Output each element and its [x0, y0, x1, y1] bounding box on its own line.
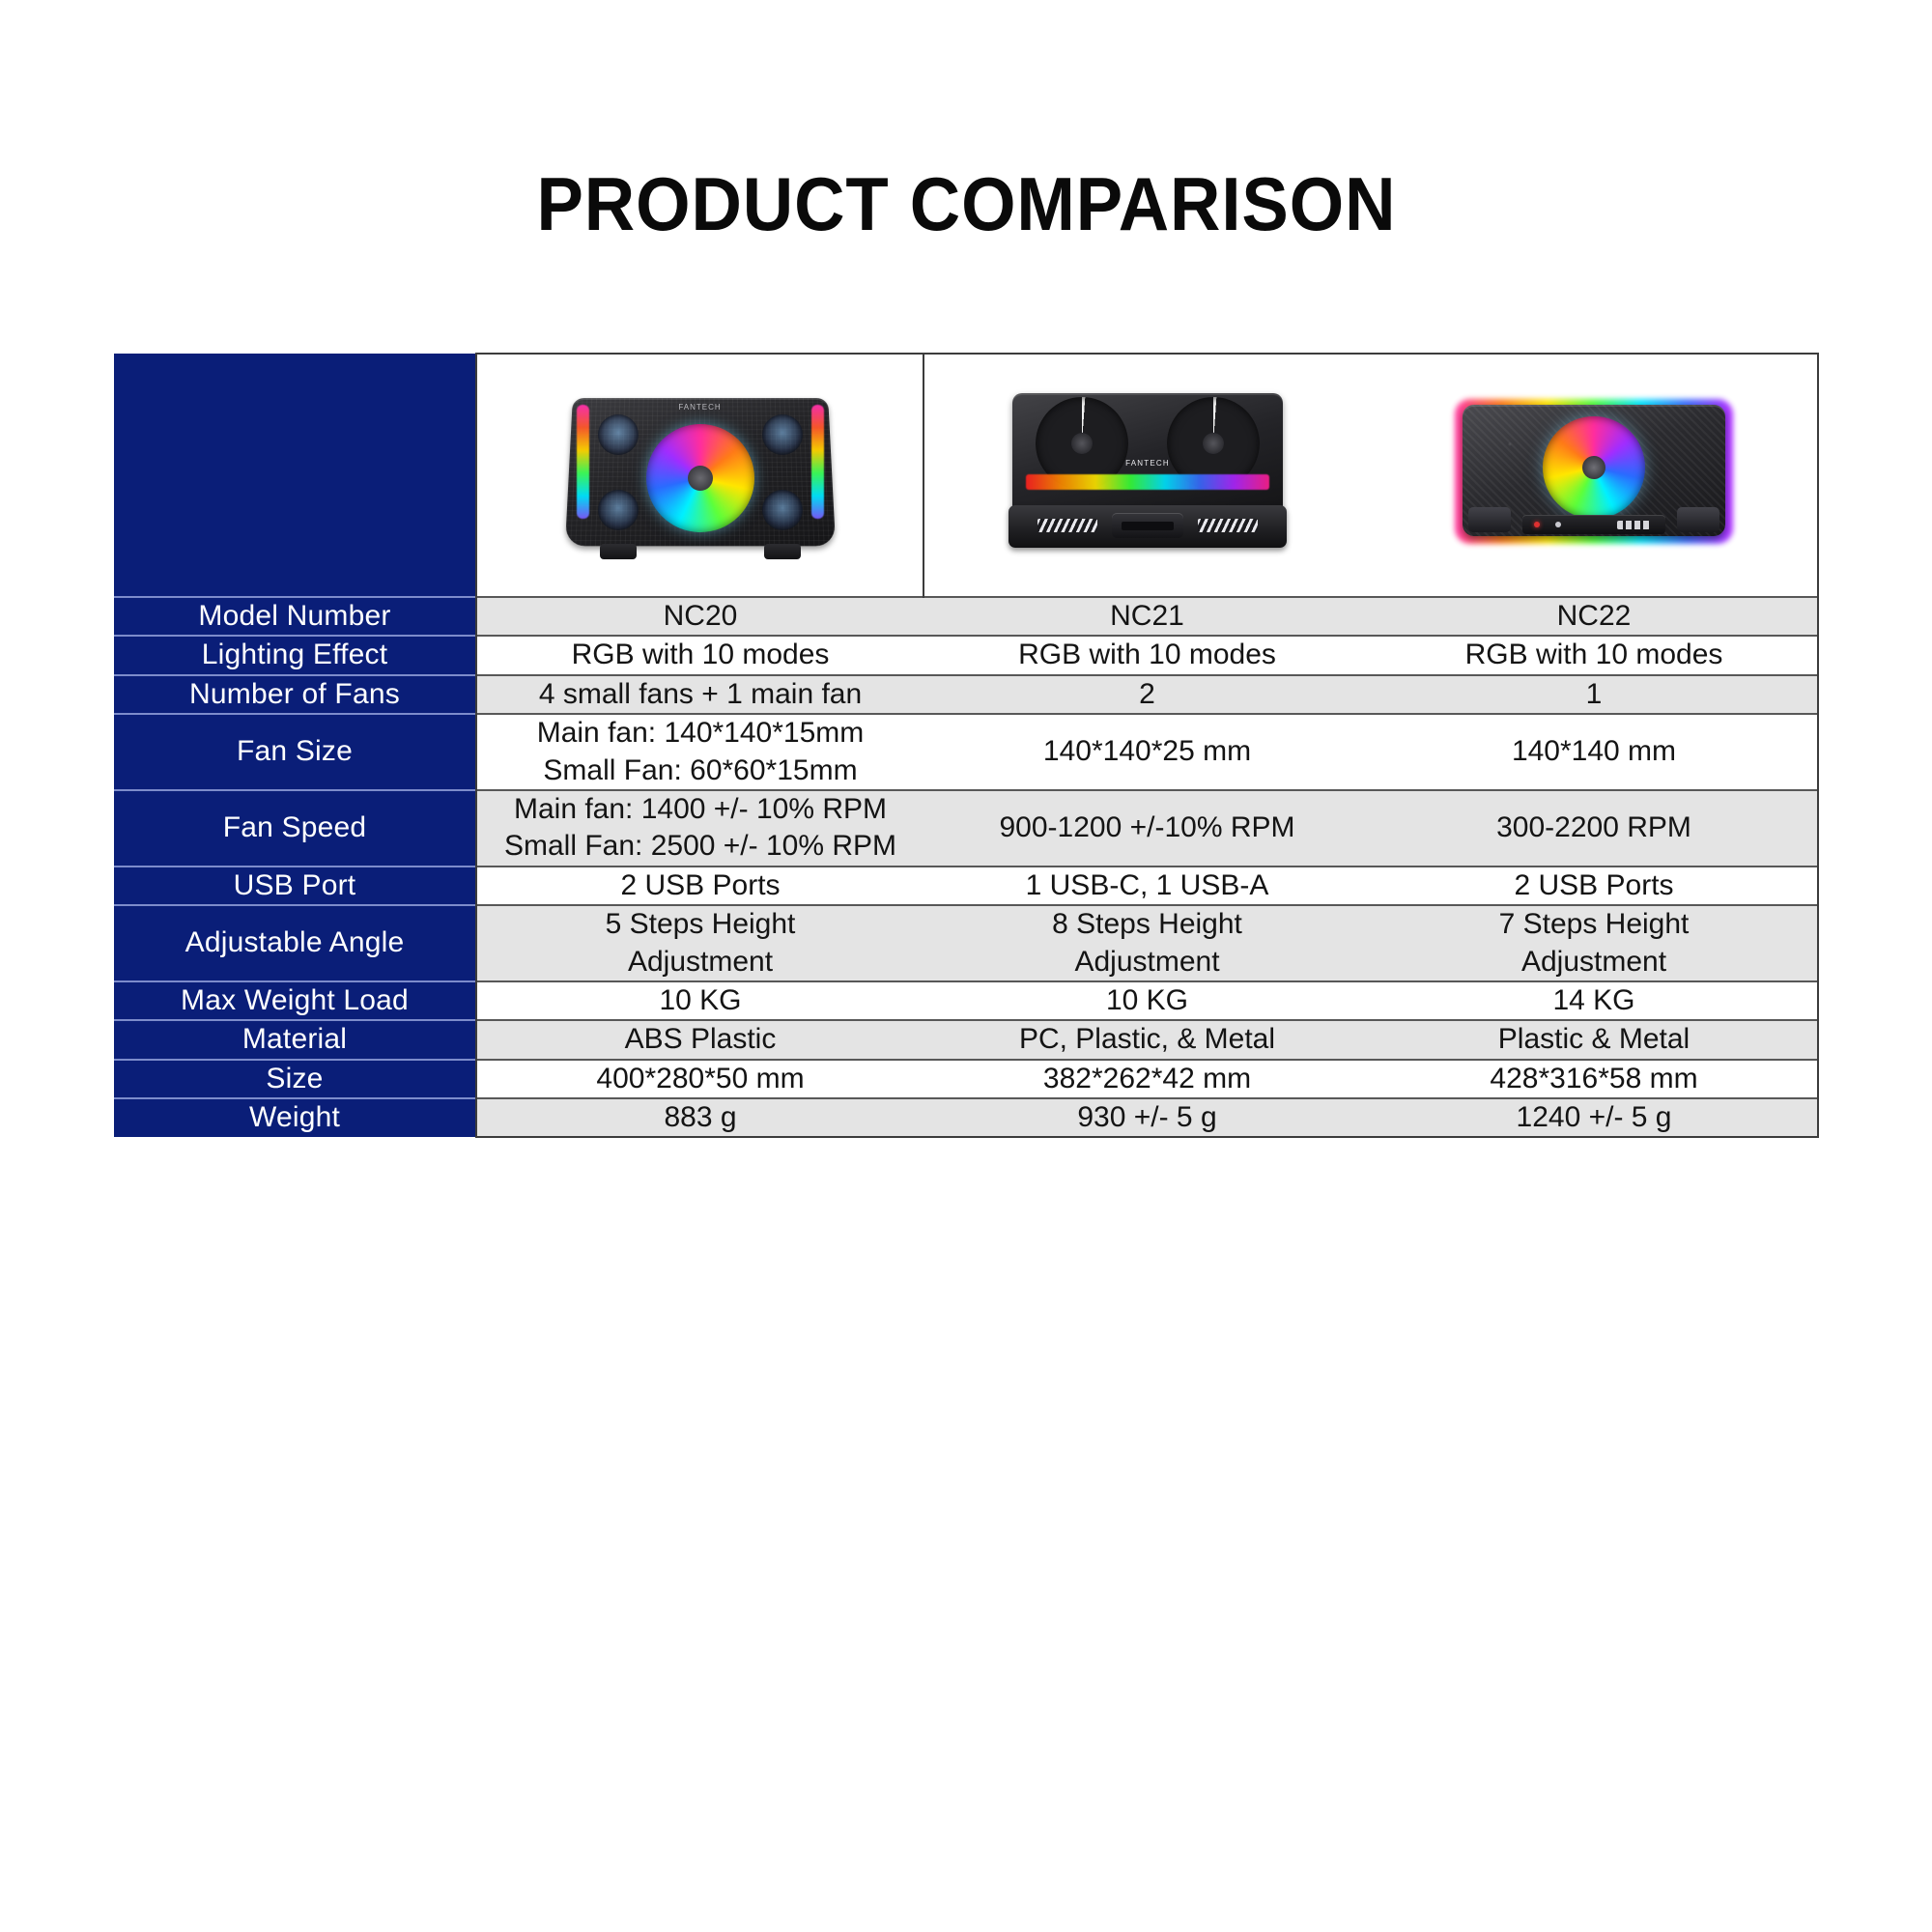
cell-line: 300-2200 RPM [1371, 810, 1817, 846]
row-label-lighting-effect: Lighting Effect [114, 636, 476, 674]
table-body: FANTECH [114, 354, 1818, 1137]
cell-line: Small Fan: 2500 +/- 10% RPM [477, 828, 923, 865]
page-title: PRODUCT COMPARISON [536, 166, 1396, 241]
cell-line: Plastic & Metal [1371, 1021, 1817, 1058]
cell-nc20-size: 400*280*50 mm [476, 1060, 923, 1098]
cell-line: 5 Steps Height [477, 906, 923, 943]
row-label-max-weight-load: Max Weight Load [114, 981, 476, 1020]
cell-nc22-adjustable-angle: 7 Steps HeightAdjustment [1371, 905, 1818, 981]
image-row-label-spacer [114, 354, 476, 597]
cell-line: 930 +/- 5 g [923, 1099, 1371, 1136]
table-row: Max Weight Load10 KG10 KG14 KG [114, 981, 1818, 1020]
cell-line: 400*280*50 mm [477, 1061, 923, 1097]
row-label-weight: Weight [114, 1098, 476, 1137]
cell-nc20-model-number: NC20 [476, 597, 923, 636]
cell-nc21-max-weight-load: 10 KG [923, 981, 1371, 1020]
cell-line: Adjustment [477, 944, 923, 980]
cell-nc21-fan-speed: 900-1200 +/-10% RPM [923, 790, 1371, 867]
product-image-row: FANTECH [114, 354, 1818, 597]
row-label-material: Material [114, 1020, 476, 1059]
table-row: Model NumberNC20NC21NC22 [114, 597, 1818, 636]
cell-line: 8 Steps Height [923, 906, 1371, 943]
cell-line: 382*262*42 mm [923, 1061, 1371, 1097]
cell-nc22-usb-port: 2 USB Ports [1371, 867, 1818, 905]
cell-line: PC, Plastic, & Metal [923, 1021, 1371, 1058]
cell-line: 10 KG [923, 982, 1371, 1019]
laptop-cooling-pad-nc21-photo: FANTECH [1003, 382, 1293, 565]
cell-nc21-adjustable-angle: 8 Steps HeightAdjustment [923, 905, 1371, 981]
product-comparison-table: FANTECH [114, 353, 1819, 1138]
table-row: Lighting EffectRGB with 10 modesRGB with… [114, 636, 1818, 674]
row-label-model-number: Model Number [114, 597, 476, 636]
product-image-cell-nc22 [1371, 354, 1818, 597]
row-label-fan-size: Fan Size [114, 714, 476, 790]
cell-line: 2 USB Ports [1371, 867, 1817, 904]
cell-nc22-material: Plastic & Metal [1371, 1020, 1818, 1059]
cell-nc22-size: 428*316*58 mm [1371, 1060, 1818, 1098]
row-label-usb-port: USB Port [114, 867, 476, 905]
cell-line: 1240 +/- 5 g [1371, 1099, 1817, 1136]
cell-line: 14 KG [1371, 982, 1817, 1019]
cell-line: 140*140*25 mm [923, 733, 1371, 770]
title-bar: PRODUCT COMPARISON [0, 116, 1932, 293]
table-row: MaterialABS PlasticPC, Plastic, & MetalP… [114, 1020, 1818, 1059]
cell-line: ABS Plastic [477, 1021, 923, 1058]
row-label-fan-speed: Fan Speed [114, 790, 476, 867]
cell-line: RGB with 10 modes [477, 637, 923, 673]
cell-nc20-number-of-fans: 4 small fans + 1 main fan [476, 675, 923, 714]
table-row: USB Port2 USB Ports1 USB-C, 1 USB-A2 USB… [114, 867, 1818, 905]
comparison-page: PRODUCT COMPARISON FANTECH [0, 0, 1932, 1932]
cell-nc20-fan-size: Main fan: 140*140*15mmSmall Fan: 60*60*1… [476, 714, 923, 790]
table-row: Fan SizeMain fan: 140*140*15mmSmall Fan:… [114, 714, 1818, 790]
cell-line: 7 Steps Height [1371, 906, 1817, 943]
cell-nc22-fan-speed: 300-2200 RPM [1371, 790, 1818, 867]
cell-nc21-number-of-fans: 2 [923, 675, 1371, 714]
table-row: Size400*280*50 mm382*262*42 mm428*316*58… [114, 1060, 1818, 1098]
cell-line: 10 KG [477, 982, 923, 1019]
cell-line: 1 USB-C, 1 USB-A [923, 867, 1371, 904]
cell-nc21-weight: 930 +/- 5 g [923, 1098, 1371, 1137]
cell-nc20-usb-port: 2 USB Ports [476, 867, 923, 905]
cell-nc22-model-number: NC22 [1371, 597, 1818, 636]
cell-line: 4 small fans + 1 main fan [477, 676, 923, 713]
cell-line: Main fan: 140*140*15mm [477, 715, 923, 752]
cell-nc21-material: PC, Plastic, & Metal [923, 1020, 1371, 1059]
cell-line: 140*140 mm [1371, 733, 1817, 770]
cell-nc22-max-weight-load: 14 KG [1371, 981, 1818, 1020]
cell-nc20-adjustable-angle: 5 Steps HeightAdjustment [476, 905, 923, 981]
cell-nc22-weight: 1240 +/- 5 g [1371, 1098, 1818, 1137]
cell-line: NC21 [923, 598, 1371, 635]
cell-nc20-max-weight-load: 10 KG [476, 981, 923, 1020]
cell-line: 1 [1371, 676, 1817, 713]
cell-nc20-fan-speed: Main fan: 1400 +/- 10% RPMSmall Fan: 250… [476, 790, 923, 867]
cell-line: 2 [923, 676, 1371, 713]
cell-nc20-weight: 883 g [476, 1098, 923, 1137]
row-label-number-of-fans: Number of Fans [114, 675, 476, 714]
cell-line: Small Fan: 60*60*15mm [477, 753, 923, 789]
cell-line: 428*316*58 mm [1371, 1061, 1817, 1097]
cell-line: 883 g [477, 1099, 923, 1136]
cell-nc21-size: 382*262*42 mm [923, 1060, 1371, 1098]
cell-line: 2 USB Ports [477, 867, 923, 904]
table-row: Weight883 g930 +/- 5 g1240 +/- 5 g [114, 1098, 1818, 1137]
cell-line: NC22 [1371, 598, 1817, 635]
product-image-cell-nc20: FANTECH [476, 354, 923, 597]
cell-nc22-number-of-fans: 1 [1371, 675, 1818, 714]
cell-nc21-usb-port: 1 USB-C, 1 USB-A [923, 867, 1371, 905]
cell-line: RGB with 10 modes [1371, 637, 1817, 673]
cell-nc21-fan-size: 140*140*25 mm [923, 714, 1371, 790]
cell-line: RGB with 10 modes [923, 637, 1371, 673]
cell-line: Adjustment [1371, 944, 1817, 980]
cell-line: NC20 [477, 598, 923, 635]
row-label-adjustable-angle: Adjustable Angle [114, 905, 476, 981]
cell-nc21-lighting-effect: RGB with 10 modes [923, 636, 1371, 674]
laptop-cooling-pad-nc22-photo [1449, 382, 1739, 565]
cell-nc20-material: ABS Plastic [476, 1020, 923, 1059]
cell-line: Adjustment [923, 944, 1371, 980]
cell-nc21-model-number: NC21 [923, 597, 1371, 636]
cell-nc20-lighting-effect: RGB with 10 modes [476, 636, 923, 674]
table-row: Adjustable Angle5 Steps HeightAdjustment… [114, 905, 1818, 981]
laptop-cooling-pad-nc20-photo: FANTECH [555, 382, 845, 565]
cell-line: Main fan: 1400 +/- 10% RPM [477, 791, 923, 828]
cell-nc22-lighting-effect: RGB with 10 modes [1371, 636, 1818, 674]
cell-line: 900-1200 +/-10% RPM [923, 810, 1371, 846]
row-label-size: Size [114, 1060, 476, 1098]
table-row: Fan SpeedMain fan: 1400 +/- 10% RPMSmall… [114, 790, 1818, 867]
product-image-cell-nc21: FANTECH [923, 354, 1371, 597]
table-row: Number of Fans4 small fans + 1 main fan2… [114, 675, 1818, 714]
cell-nc22-fan-size: 140*140 mm [1371, 714, 1818, 790]
